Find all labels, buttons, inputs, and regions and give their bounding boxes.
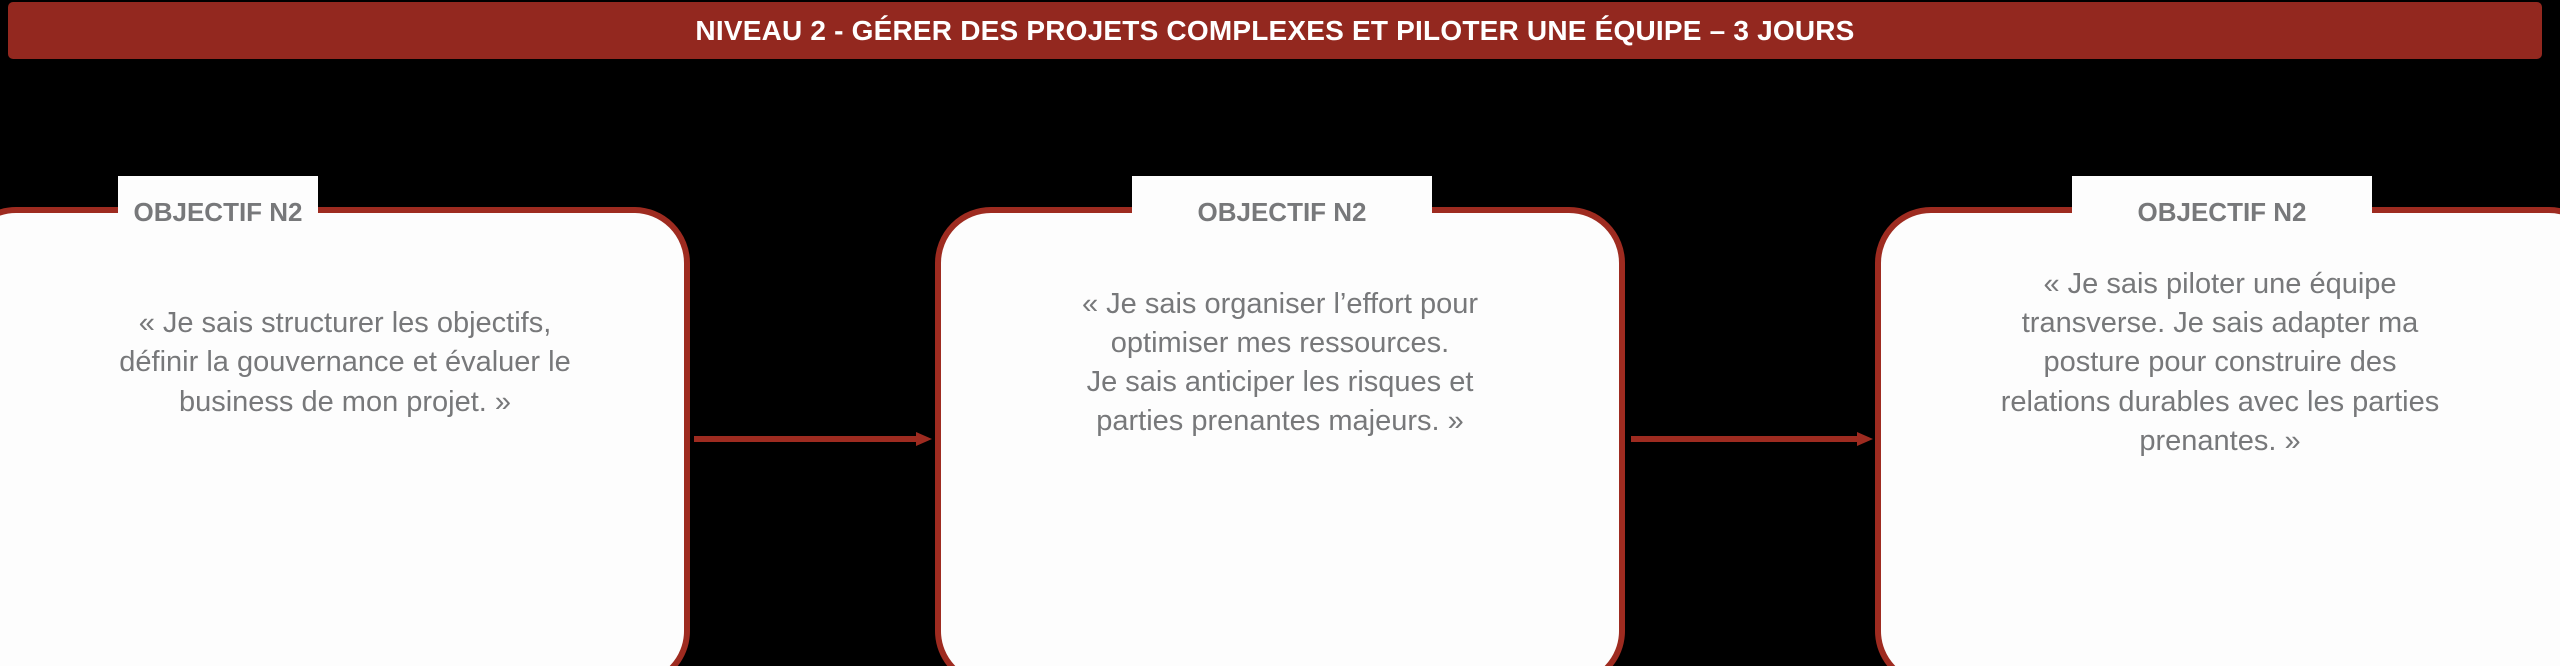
arrow-head	[916, 432, 932, 446]
objective-card-2-tab-label: OBJECTIF N2	[1197, 199, 1366, 226]
objective-card-1-tab: OBJECTIF N2	[118, 176, 318, 228]
objective-card-3-tab: OBJECTIF N2	[2072, 176, 2372, 228]
objective-card-1-text: « Je sais structurer les objectifs, défi…	[119, 304, 570, 421]
objective-card-3-tab-label: OBJECTIF N2	[2137, 199, 2306, 226]
objective-card-1-tab-label: OBJECTIF N2	[133, 199, 302, 226]
objective-card-3-text: « Je sais piloter une équipe transverse.…	[2001, 265, 2439, 461]
objective-card-3: « Je sais piloter une équipe transverse.…	[1875, 207, 2560, 666]
page-title: NIVEAU 2 - GÉRER DES PROJETS COMPLEXES E…	[695, 17, 1854, 45]
arrow-head	[1857, 432, 1873, 446]
objective-card-2-tab: OBJECTIF N2	[1132, 176, 1432, 228]
objective-card-1-body: « Je sais structurer les objectifs, défi…	[0, 213, 684, 513]
objective-card-2-text: « Je sais organiser l’effort pour optimi…	[1082, 285, 1478, 442]
objective-card-3-body: « Je sais piloter une équipe transverse.…	[1881, 213, 2560, 513]
objective-card-2: « Je sais organiser l’effort pour optimi…	[935, 207, 1625, 666]
arrow-shaft	[1631, 436, 1859, 442]
objective-card-2-body: « Je sais organiser l’effort pour optimi…	[941, 213, 1619, 513]
arrow-right-icon-card1-to-card2	[694, 432, 932, 446]
objective-card-1: « Je sais structurer les objectifs, défi…	[0, 207, 690, 666]
arrow-right-icon-card2-to-card3	[1631, 432, 1873, 446]
slide-canvas: NIVEAU 2 - GÉRER DES PROJETS COMPLEXES E…	[0, 0, 2560, 666]
header-banner: NIVEAU 2 - GÉRER DES PROJETS COMPLEXES E…	[8, 2, 2542, 59]
arrow-shaft	[694, 436, 918, 442]
